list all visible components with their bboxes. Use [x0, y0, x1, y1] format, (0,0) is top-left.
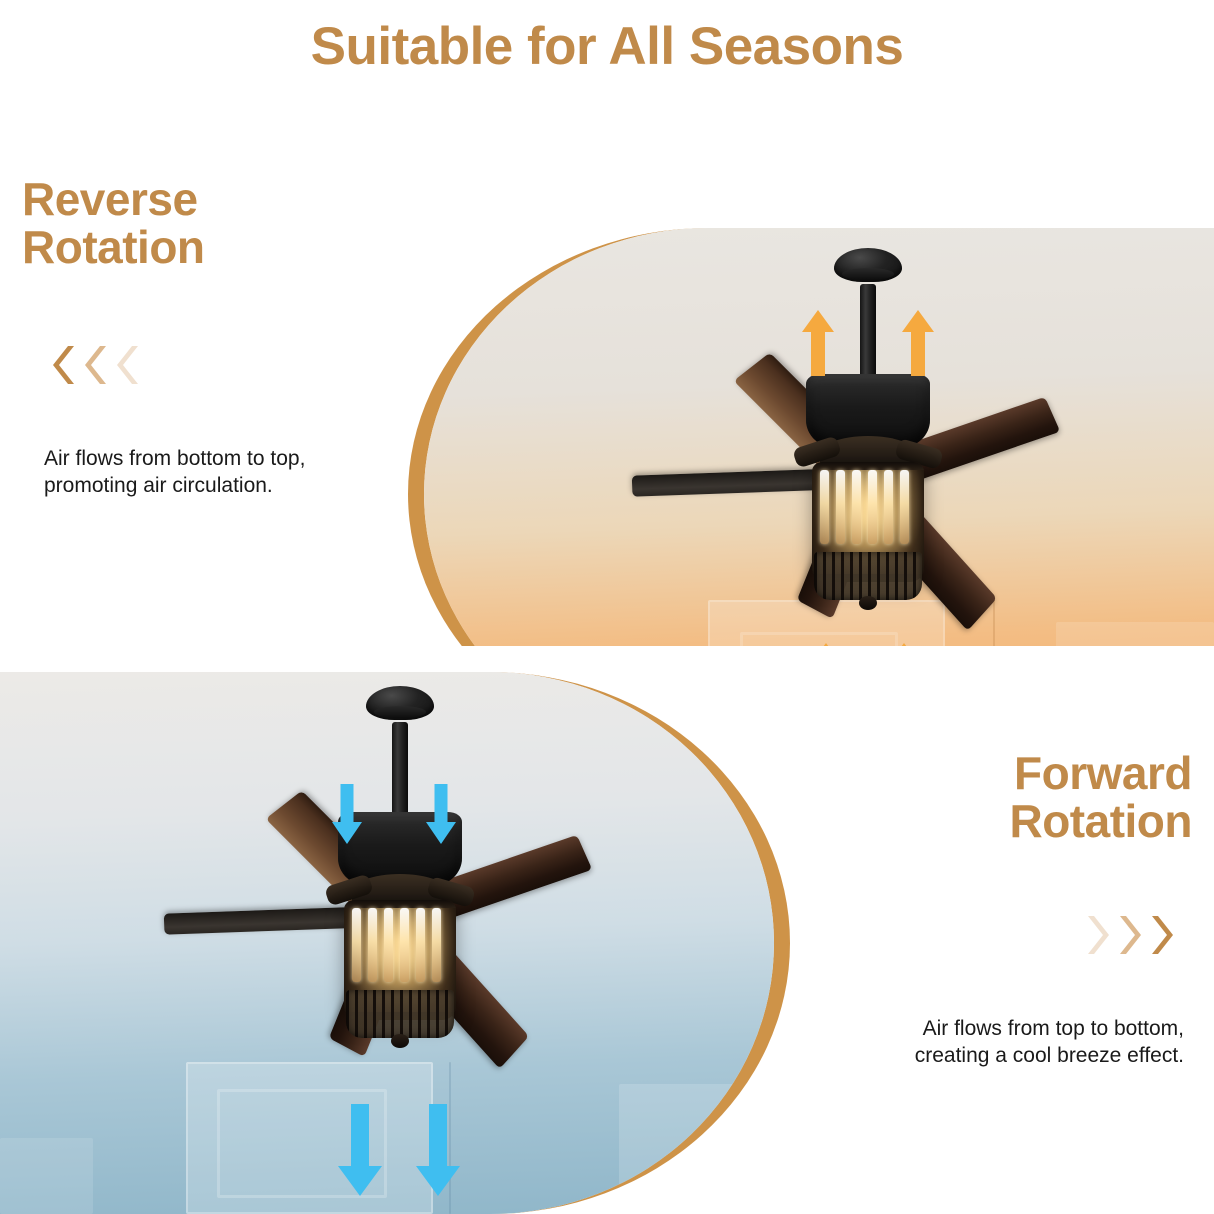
arrow-up-icon: [802, 310, 834, 376]
arrow-down-icon: [332, 784, 362, 844]
fan-downrod: [860, 284, 876, 380]
chevron-left-icon: [112, 346, 138, 384]
chevron-right-icon: [1120, 916, 1146, 954]
crystal-bar: [400, 908, 409, 982]
crystal-bar: [836, 470, 845, 544]
infographic-canvas: Suitable for All Seasons: [0, 0, 1214, 1214]
fan-canopy: [834, 248, 902, 282]
arrow-down-icon: [416, 1104, 460, 1196]
arrow-up-icon: [804, 643, 848, 646]
panel-reverse-rotation: Reverse Rotation Air flows from bottom t…: [0, 114, 1214, 646]
crystal-bar: [352, 908, 361, 982]
room-scene-cool: [0, 672, 774, 1214]
crystal-bar: [900, 470, 909, 544]
crystal-bar: [884, 470, 893, 544]
chevron-left-icon: [80, 346, 106, 384]
arrow-down-icon: [338, 1104, 382, 1196]
heading-reverse-rotation: Reverse Rotation: [22, 176, 404, 272]
fan-downrod: [392, 722, 408, 818]
chevron-group-right: [792, 916, 1178, 954]
panel-forward-rotation: Forward Rotation Air flows from top to b…: [0, 672, 1214, 1214]
light-finial: [859, 596, 877, 610]
crystal-bar: [820, 470, 829, 544]
room-scene-warm: [424, 228, 1214, 646]
light-cage: [346, 990, 454, 1038]
photo-reverse-rotation: [408, 228, 1214, 646]
arrow-up-icon: [882, 643, 926, 646]
crystal-bar: [416, 908, 425, 982]
text-block-forward-rotation: Forward Rotation Air flows from top to b…: [792, 750, 1192, 1069]
arrow-down-icon: [426, 784, 456, 844]
chevron-right-icon: [1088, 916, 1114, 954]
body-reverse-rotation: Air flows from bottom to top, promoting …: [44, 446, 404, 500]
body-forward-rotation: Air flows from top to bottom, creating a…: [792, 1016, 1184, 1070]
crystal-bar: [432, 908, 441, 982]
light-cage: [814, 552, 922, 600]
wall-corner-line: [993, 600, 995, 646]
heading-forward-rotation: Forward Rotation: [792, 750, 1192, 846]
shade-band-top: [812, 462, 924, 470]
fan-canopy: [366, 686, 434, 720]
light-finial: [391, 1034, 409, 1048]
crystal-bar: [368, 908, 377, 982]
wall-trim-left: [0, 1138, 93, 1214]
photo-forward-rotation: [0, 672, 790, 1214]
chevron-group-left: [48, 346, 404, 384]
chevron-right-icon: [1152, 916, 1178, 954]
wall-trim-right: [1056, 622, 1214, 646]
crystal-bar: [384, 908, 393, 982]
text-block-reverse-rotation: Reverse Rotation Air flows from bottom t…: [22, 176, 404, 499]
wall-trim-right: [619, 1084, 758, 1214]
crystal-bar: [868, 470, 877, 544]
crystal-bar: [852, 470, 861, 544]
arrow-up-icon: [902, 310, 934, 376]
chevron-left-icon: [48, 346, 74, 384]
page-title: Suitable for All Seasons: [0, 16, 1214, 77]
shade-band-top: [344, 900, 456, 908]
